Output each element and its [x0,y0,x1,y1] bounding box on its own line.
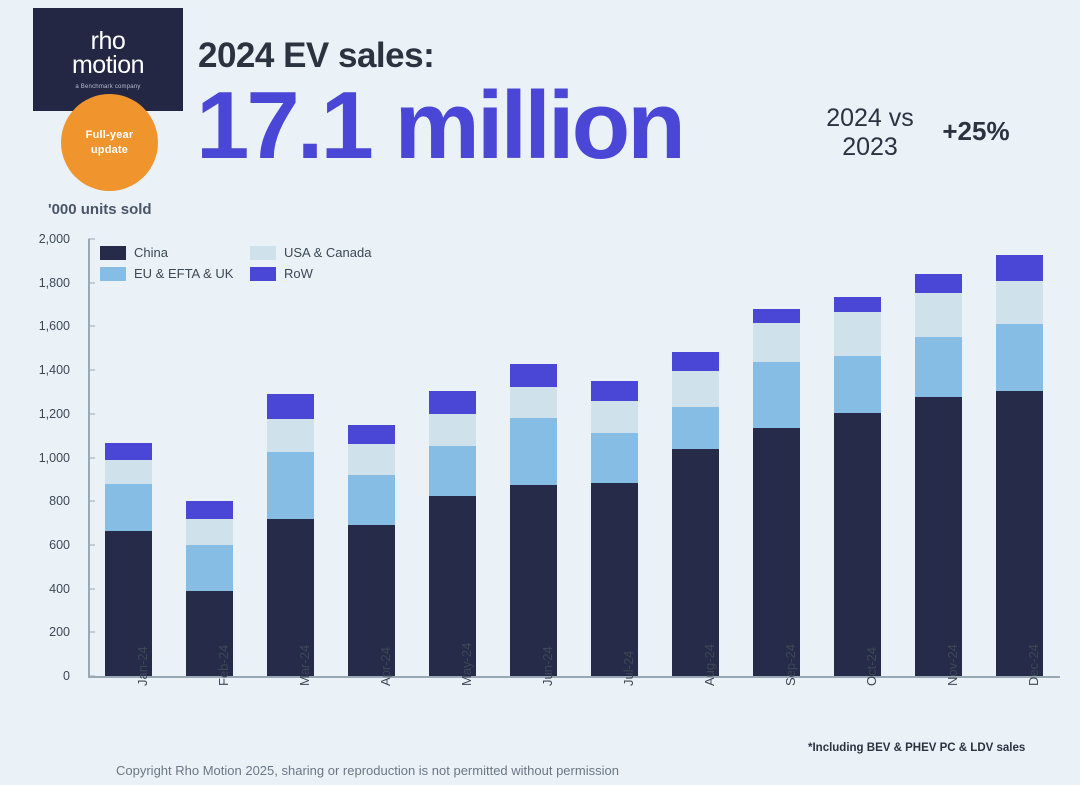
copyright-notice: Copyright Rho Motion 2025, sharing or re… [116,763,619,778]
y-axis-tick-label: 400 [0,582,80,596]
y-axis-tick-label: 0 [0,669,80,683]
bar-segment [105,460,152,484]
bar-segment [834,356,881,413]
bar-segment [348,425,395,445]
bar-stack[interactable] [267,394,314,676]
page-title: 17.1 million [196,78,683,174]
bar-segment [267,419,314,452]
bar-segment [591,433,638,482]
bar-segment [348,475,395,525]
bar-segment [186,501,233,518]
bar-segment [834,413,881,676]
legend-item[interactable]: RoW [250,266,415,281]
y-axis-title: '000 units sold [48,201,152,218]
bar-segment [915,397,962,676]
logo-subtext: a Benchmark company [75,84,140,90]
y-axis-tick-label: 200 [0,625,80,639]
bar-segment [186,545,233,591]
legend-swatch-usa_canada [250,246,276,260]
chart-bars [88,239,1060,676]
bar-segment [753,323,800,362]
y-axis-tick-label: 2,000 [0,232,80,246]
legend-label: USA & Canada [284,245,371,260]
bar-segment [429,391,476,414]
bar-segment [996,391,1043,676]
bar-stack[interactable] [996,255,1043,676]
bar-stack[interactable] [348,425,395,676]
bar-segment [834,312,881,356]
x-axis-label: Oct-24 [864,647,879,686]
bar-segment [267,394,314,419]
bar-segment [672,371,719,407]
bar-segment [186,519,233,545]
bar-stack[interactable] [591,381,638,676]
legend-label: China [134,245,168,260]
bar-segment [591,381,638,401]
bar-segment [591,401,638,434]
y-axis-tick-label: 1,000 [0,451,80,465]
y-axis-tick-label: 600 [0,538,80,552]
y-axis-tick-label: 1,200 [0,407,80,421]
bar-segment [429,446,476,496]
chart-footnote: *Including BEV & PHEV PC & LDV sales [808,742,1025,754]
bar-segment [429,414,476,446]
x-axis-label: Mar-24 [297,645,312,686]
badge-line-2: update [91,143,128,158]
comparison-value: +25% [930,116,1022,147]
x-axis-label: Sep-24 [783,644,798,686]
x-axis-label: Jul-24 [621,651,636,686]
x-axis-label: Apr-24 [378,647,393,686]
legend-swatch-row [250,267,276,281]
y-axis-tick-label: 1,800 [0,276,80,290]
bar-segment [267,452,314,519]
bar-stack[interactable] [510,364,557,676]
bar-segment [672,352,719,372]
full-year-update-badge: Full-year update [61,94,158,191]
bar-segment [510,364,557,387]
x-axis-label: Jan-24 [135,646,150,686]
badge-line-1: Full-year [86,128,134,143]
legend-item[interactable]: USA & Canada [250,245,415,260]
legend-swatch-eu_efta_uk [100,267,126,281]
bar-segment [753,309,800,323]
bar-segment [915,293,962,338]
bar-segment [348,444,395,475]
bar-segment [753,362,800,428]
bar-segment [672,407,719,449]
bar-segment [915,274,962,293]
comparison-label-line-2: 2023 [815,133,925,162]
bar-segment [591,483,638,676]
bar-segment [834,297,881,312]
comparison-label-line-1: 2024 vs [815,104,925,133]
bar-stack[interactable] [753,309,800,676]
x-axis-label: Dec-24 [1026,644,1041,686]
bar-stack[interactable] [105,443,152,676]
x-axis-label: Aug-24 [702,644,717,686]
bar-stack[interactable] [429,391,476,676]
y-axis-tick-label: 800 [0,494,80,508]
x-axis-label: Nov-24 [945,644,960,686]
bar-segment [915,337,962,397]
page-eyebrow: 2024 EV sales: [198,36,434,76]
comparison-label: 2024 vs 2023 [815,104,925,162]
legend-swatch-china [100,246,126,260]
bar-stack[interactable] [672,352,719,676]
y-axis-tick-label: 1,600 [0,319,80,333]
legend-item[interactable]: China [100,245,250,260]
bar-stack[interactable] [915,274,962,676]
x-axis-label: May-24 [459,643,474,686]
legend-item[interactable]: EU & EFTA & UK [100,266,250,281]
x-axis-line [88,676,1060,678]
logo-line-1: rho [91,29,126,53]
x-axis-label: Jun-24 [540,646,555,686]
bar-segment [996,281,1043,325]
logo-line-2: motion [72,53,144,77]
bar-segment [510,418,557,485]
bar-segment [105,484,152,531]
y-axis-tick-label: 1,400 [0,363,80,377]
bar-segment [510,387,557,419]
x-axis-label: Feb-24 [216,645,231,686]
infographic-root: rho motion a Benchmark company Full-year… [0,0,1080,785]
bar-segment [753,428,800,676]
legend-label: EU & EFTA & UK [134,266,233,281]
legend-label: RoW [284,266,313,281]
bar-segment [996,324,1043,391]
bar-segment [672,449,719,676]
chart-legend: ChinaUSA & CanadaEU & EFTA & UKRoW [100,245,415,281]
bar-segment [105,443,152,459]
bar-stack[interactable] [834,297,881,676]
bar-segment [996,255,1043,280]
